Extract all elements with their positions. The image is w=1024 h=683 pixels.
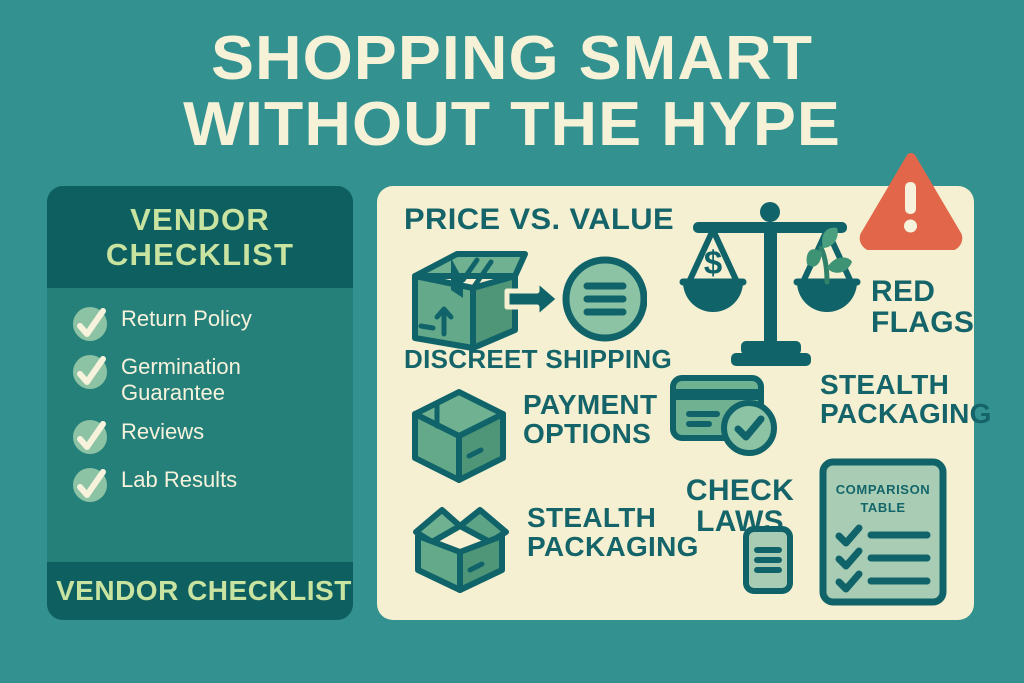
label-payment-options-line1: Payment: [523, 390, 657, 419]
label-check-laws-line1: Check: [680, 475, 800, 506]
list-item[interactable]: Reviews: [73, 419, 353, 454]
balance-scale-icon: $: [677, 198, 863, 375]
comparison-table-title-line2: TABLE: [860, 500, 905, 515]
label-red-flags-line2: Flags: [871, 307, 974, 338]
check-icon: [73, 420, 107, 454]
label-stealth-packaging-right-line1: Stealth: [820, 370, 992, 399]
label-stealth-packaging-left: Stealth Packaging: [527, 503, 699, 561]
title-line-1: Shopping Smart: [0, 26, 1024, 92]
list-item-label: Reviews: [121, 419, 204, 445]
check-icon: [73, 307, 107, 341]
label-stealth-packaging-left-line1: Stealth: [527, 503, 699, 532]
vendor-checklist-sidebar: Vendor Checklist Return Policy Germinati…: [47, 186, 353, 620]
sidebar-footer-label: Vendor Checklist: [56, 575, 352, 607]
document-lines-icon: [740, 524, 796, 601]
list-item-label: Lab Results: [121, 467, 237, 493]
comparison-table-title-line1: COMPARISON: [836, 482, 931, 497]
comparison-table-card[interactable]: COMPARISON TABLE: [817, 456, 949, 613]
check-icon: [73, 355, 107, 389]
page-title: Shopping Smart Without the Hype: [0, 26, 1024, 158]
panel-heading: Price vs. Value: [404, 203, 674, 237]
list-item[interactable]: Germination Guarantee: [73, 354, 353, 406]
sidebar-title: Vendor Checklist: [61, 202, 339, 272]
main-content-panel: Price vs. Value: [377, 186, 974, 620]
warning-triangle-icon: [859, 150, 963, 255]
list-item[interactable]: Return Policy: [73, 306, 353, 341]
label-discreet-shipping: Discreet Shipping: [404, 346, 672, 373]
list-item-label: Germination Guarantee: [121, 354, 316, 406]
checklist-items: Return Policy Germination Guarantee Revi…: [47, 288, 353, 562]
list-circle-icon: [566, 260, 644, 338]
label-stealth-packaging-left-line2: Packaging: [527, 532, 699, 561]
label-red-flags-line1: Red: [871, 276, 974, 307]
credit-card-icon-group: [667, 372, 783, 463]
label-stealth-packaging-right-line2: Packaging: [820, 399, 992, 428]
list-item-label: Return Policy: [121, 306, 252, 332]
title-line-2: Without the Hype: [0, 92, 1024, 158]
check-icon: [73, 468, 107, 502]
list-item[interactable]: Lab Results: [73, 467, 353, 502]
infographic-canvas: Shopping Smart Without the Hype Vendor C…: [0, 0, 1024, 683]
open-box-icon: [402, 492, 520, 601]
sidebar-header: Vendor Checklist: [47, 186, 353, 288]
label-red-flags: Red Flags: [871, 276, 974, 338]
label-payment-options: Payment Options: [523, 390, 657, 448]
label-stealth-packaging-right: Stealth Packaging: [820, 370, 992, 428]
check-badge-icon: [724, 403, 774, 453]
sidebar-footer: Vendor Checklist: [47, 562, 353, 620]
closed-box-icon: [407, 386, 511, 491]
label-payment-options-line2: Options: [523, 419, 657, 448]
dollar-sign-icon: $: [704, 244, 722, 281]
